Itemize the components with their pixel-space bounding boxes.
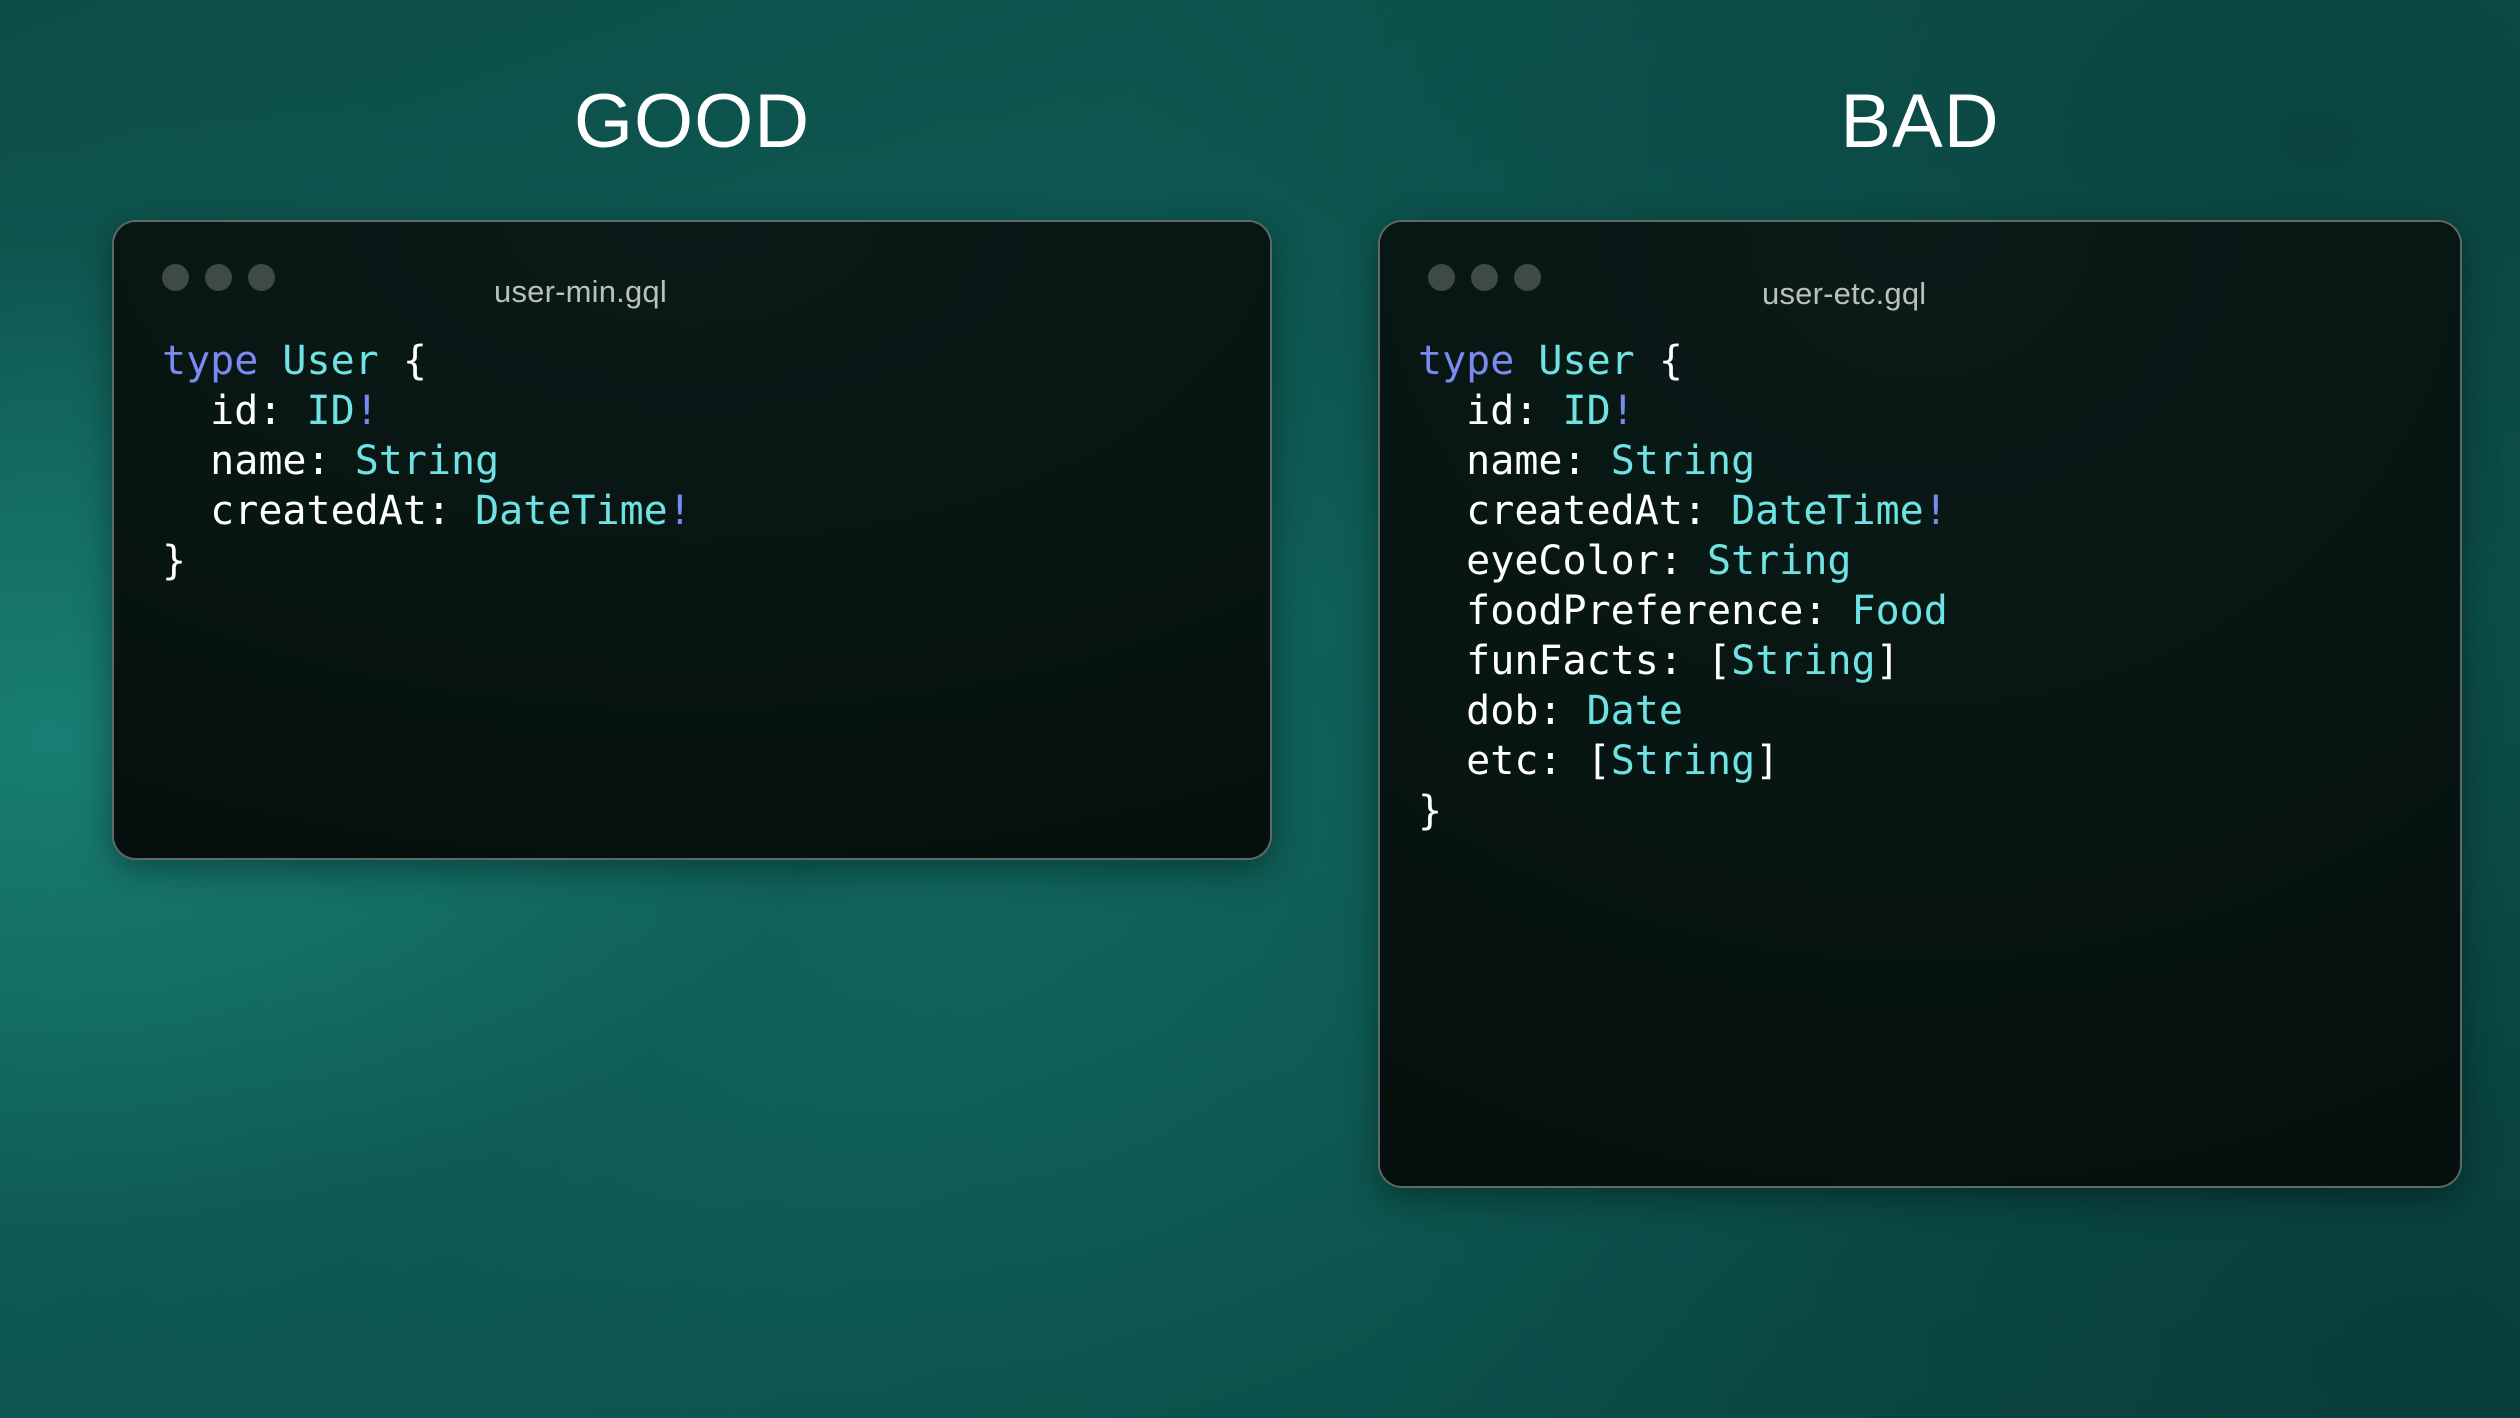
code-token-punct: [ <box>1707 638 1731 684</box>
code-line: } <box>162 536 1270 586</box>
code-card-bad: user-etc.gql type User { id: ID! name: S… <box>1378 220 2462 1188</box>
code-line: etc: [String] <box>1418 736 2460 786</box>
code-indent <box>1418 538 1466 584</box>
code-token-type: Food <box>1852 588 1948 634</box>
code-token-bang: ! <box>668 488 692 534</box>
code-token-plain <box>1635 338 1659 384</box>
code-token-bang: ! <box>355 388 379 434</box>
code-indent <box>1418 438 1466 484</box>
code-indent <box>162 438 210 484</box>
code-token-punct: [ <box>1587 738 1611 784</box>
code-token-name: name: <box>210 438 330 484</box>
filename-label-good: user-min.gql <box>494 274 667 310</box>
code-indent <box>162 488 210 534</box>
close-dot-icon[interactable] <box>162 264 189 291</box>
code-token-type: String <box>1611 438 1756 484</box>
code-token-plain <box>1563 688 1587 734</box>
code-token-punct: { <box>403 338 427 384</box>
comparison-stage: GOOD BAD user-min.gql type User { id: ID… <box>0 0 2520 1418</box>
code-indent <box>162 388 210 434</box>
code-token-punct: ] <box>1755 738 1779 784</box>
code-token-name: name: <box>1466 438 1586 484</box>
code-indent <box>1418 388 1466 434</box>
code-indent <box>1418 688 1466 734</box>
code-token-plain <box>258 338 282 384</box>
code-line: type User { <box>1418 336 2460 386</box>
code-token-plain <box>331 438 355 484</box>
code-token-punct: ] <box>1876 638 1900 684</box>
code-token-type: String <box>1707 538 1852 584</box>
code-token-name: eyeColor: <box>1466 538 1683 584</box>
code-token-plain <box>1827 588 1851 634</box>
window-controls-good <box>162 264 275 291</box>
heading-good: GOOD <box>112 84 1272 160</box>
code-line: name: String <box>162 436 1270 486</box>
code-token-plain <box>1538 388 1562 434</box>
code-token-punct: } <box>162 538 186 584</box>
code-token-type: Date <box>1587 688 1683 734</box>
code-line: funFacts: [String] <box>1418 636 2460 686</box>
code-token-kw: type <box>162 338 258 384</box>
code-token-plain <box>1707 488 1731 534</box>
close-dot-icon[interactable] <box>1428 264 1455 291</box>
code-line: id: ID! <box>1418 386 2460 436</box>
code-token-bang: ! <box>1924 488 1948 534</box>
code-line: id: ID! <box>162 386 1270 436</box>
code-token-plain <box>451 488 475 534</box>
card-surface-bad: user-etc.gql type User { id: ID! name: S… <box>1380 222 2460 1186</box>
code-token-type: ID <box>1563 388 1611 434</box>
code-token-plain <box>1683 538 1707 584</box>
code-line: } <box>1418 786 2460 836</box>
code-token-type: String <box>1731 638 1876 684</box>
code-token-name: dob: <box>1466 688 1562 734</box>
minimize-dot-icon[interactable] <box>205 264 232 291</box>
code-indent <box>1418 588 1466 634</box>
code-block-bad: type User { id: ID! name: String created… <box>1418 332 2460 836</box>
code-token-name: createdAt: <box>1466 488 1707 534</box>
heading-bad: BAD <box>1378 84 2462 160</box>
card-titlebar-bad: user-etc.gql <box>1380 222 2460 332</box>
code-line: name: String <box>1418 436 2460 486</box>
code-token-name: id: <box>210 388 282 434</box>
code-token-bang: ! <box>1611 388 1635 434</box>
maximize-dot-icon[interactable] <box>248 264 275 291</box>
code-token-plain <box>1683 638 1707 684</box>
code-token-plain <box>1514 338 1538 384</box>
code-line: createdAt: DateTime! <box>1418 486 2460 536</box>
code-token-type: DateTime <box>475 488 668 534</box>
code-token-name: etc: <box>1466 738 1562 784</box>
code-token-plain <box>379 338 403 384</box>
card-titlebar-good: user-min.gql <box>114 222 1270 332</box>
code-line: foodPreference: Food <box>1418 586 2460 636</box>
code-block-good: type User { id: ID! name: String created… <box>162 332 1270 586</box>
code-line: type User { <box>162 336 1270 386</box>
code-line: eyeColor: String <box>1418 536 2460 586</box>
code-indent <box>1418 638 1466 684</box>
filename-label-bad: user-etc.gql <box>1762 276 1926 312</box>
code-token-punct: } <box>1418 788 1442 834</box>
code-token-name: createdAt: <box>210 488 451 534</box>
code-token-type: String <box>1611 738 1756 784</box>
code-token-kw: type <box>1418 338 1514 384</box>
card-surface-good: user-min.gql type User { id: ID! name: S… <box>114 222 1270 858</box>
code-token-plain <box>282 388 306 434</box>
maximize-dot-icon[interactable] <box>1514 264 1541 291</box>
code-token-plain <box>1587 438 1611 484</box>
minimize-dot-icon[interactable] <box>1471 264 1498 291</box>
code-token-type: ID <box>307 388 355 434</box>
code-token-type: User <box>282 338 378 384</box>
code-line: dob: Date <box>1418 686 2460 736</box>
code-card-good: user-min.gql type User { id: ID! name: S… <box>112 220 1272 860</box>
code-indent <box>1418 738 1466 784</box>
code-line: createdAt: DateTime! <box>162 486 1270 536</box>
code-token-type: DateTime <box>1731 488 1924 534</box>
code-indent <box>1418 488 1466 534</box>
code-token-name: id: <box>1466 388 1538 434</box>
code-token-punct: { <box>1659 338 1683 384</box>
code-token-name: foodPreference: <box>1466 588 1827 634</box>
code-token-plain <box>1563 738 1587 784</box>
code-token-name: funFacts: <box>1466 638 1683 684</box>
window-controls-bad <box>1428 264 1541 291</box>
code-token-type: User <box>1538 338 1634 384</box>
code-token-type: String <box>355 438 500 484</box>
